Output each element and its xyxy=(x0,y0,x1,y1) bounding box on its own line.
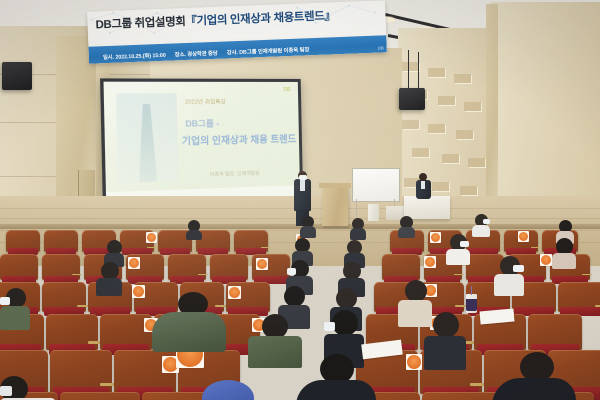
auditorium-seat[interactable] xyxy=(528,314,582,350)
auditorium-seat[interactable] xyxy=(210,254,248,280)
attendee xyxy=(446,234,470,262)
distancing-sticker xyxy=(430,232,441,243)
attendee xyxy=(552,238,576,266)
distancing-sticker xyxy=(256,258,268,270)
distancing-sticker xyxy=(132,285,145,298)
whiteboard xyxy=(352,168,400,202)
auditorium-seat[interactable] xyxy=(558,282,600,312)
attendee xyxy=(472,214,490,234)
face-mask-icon xyxy=(299,175,307,180)
distancing-sticker xyxy=(424,256,436,268)
attendee xyxy=(196,380,262,400)
banner-corner-logo: DB xyxy=(378,45,384,50)
distancing-sticker xyxy=(518,231,529,242)
auditorium-seat[interactable] xyxy=(46,314,98,350)
projection-screen-surface: DB 2022년 취업특강 DB그룹 - 기업의 인재상과 채용 트렌드 이종욱… xyxy=(104,82,301,214)
auditorium-seat[interactable] xyxy=(60,392,140,400)
attendee xyxy=(350,218,366,236)
auditorium-photo: DB그룹 취업설명회『기업의 인재상과 채용트렌드』 일시. 2022.10.2… xyxy=(0,0,600,400)
attendee xyxy=(300,216,316,234)
baseball-cap xyxy=(202,380,254,400)
slide-top-logo: DB xyxy=(283,87,290,93)
attendee xyxy=(152,292,226,348)
auditorium-seat[interactable] xyxy=(44,230,78,252)
auditorium-seat[interactable] xyxy=(42,282,86,312)
attendee xyxy=(96,262,122,294)
staff-shirt xyxy=(421,181,425,189)
slide-building-image xyxy=(116,93,179,183)
attendee xyxy=(556,220,574,240)
speaker-icon xyxy=(2,62,32,90)
auditorium-seat[interactable] xyxy=(234,230,268,252)
speaker-mount-rod xyxy=(408,50,409,92)
attendee xyxy=(398,216,415,234)
attendee xyxy=(0,376,56,400)
slide-headline-secondary: 기업의 인재상과 채용 트렌드 xyxy=(182,131,297,148)
auditorium-seat[interactable] xyxy=(42,254,80,280)
distancing-sticker xyxy=(540,254,552,266)
speaker-icon xyxy=(399,88,425,110)
attendee xyxy=(296,354,376,400)
distancing-sticker xyxy=(406,354,422,370)
attendee xyxy=(0,288,30,328)
attendee xyxy=(248,314,302,366)
seating-area xyxy=(0,214,600,400)
slide-headline-primary: DB그룹 - xyxy=(185,117,219,130)
attendee xyxy=(424,312,466,368)
speaker-mount-rod xyxy=(418,52,419,92)
auditorium-seat[interactable] xyxy=(50,350,112,394)
attendee xyxy=(292,238,313,262)
distancing-sticker xyxy=(228,286,241,299)
attendee xyxy=(344,240,365,264)
presentation-slide: DB 2022년 취업특강 DB그룹 - 기업의 인재상과 채용 트렌드 이종욱… xyxy=(104,82,301,214)
distancing-sticker xyxy=(146,232,157,243)
slide-eyebrow: 2022년 취업특강 xyxy=(185,98,226,105)
distancing-sticker xyxy=(128,257,140,269)
slide-presenter-line: 이종욱 팀장, 인재개발원 xyxy=(210,169,260,178)
attendee xyxy=(492,352,576,400)
auditorium-seat[interactable] xyxy=(6,230,40,252)
av-staff xyxy=(416,173,431,199)
staff-head xyxy=(419,173,427,181)
presenter-shirt xyxy=(300,180,305,191)
auditorium-seat[interactable] xyxy=(382,254,420,280)
attendee xyxy=(104,240,124,262)
attendee xyxy=(186,220,202,236)
banner-title-main: DB그룹 취업설명회 xyxy=(95,16,185,31)
auditorium-seat[interactable] xyxy=(168,254,206,280)
banner-detail-place: 장소. 경상학관 중당 xyxy=(174,48,217,58)
attendee xyxy=(494,256,524,294)
iced-drink-cup xyxy=(466,294,477,313)
auditorium-seat[interactable] xyxy=(0,254,38,280)
auditorium-seat[interactable] xyxy=(422,392,502,400)
